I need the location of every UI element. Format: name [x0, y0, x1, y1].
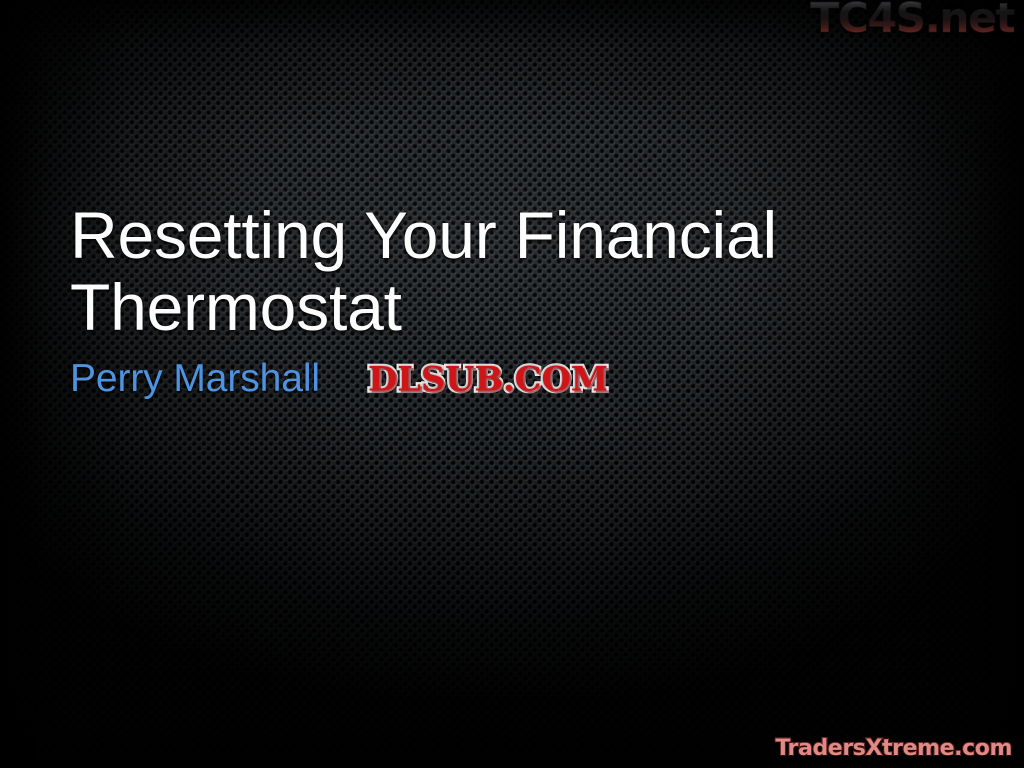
watermark-dlsub-com: DLSUB.COM [368, 362, 608, 396]
slide-title: Resetting Your Financial Thermostat [70, 200, 850, 344]
watermark-tradersxtreme-text: TradersXtreme.com [775, 736, 1012, 761]
watermark-tradersxtreme-com: TradersXtreme.com [775, 738, 1012, 760]
watermark-tc4s-net: TC4S.net [810, 0, 1014, 39]
presentation-slide: Resetting Your Financial Thermostat Perr… [0, 0, 1024, 768]
